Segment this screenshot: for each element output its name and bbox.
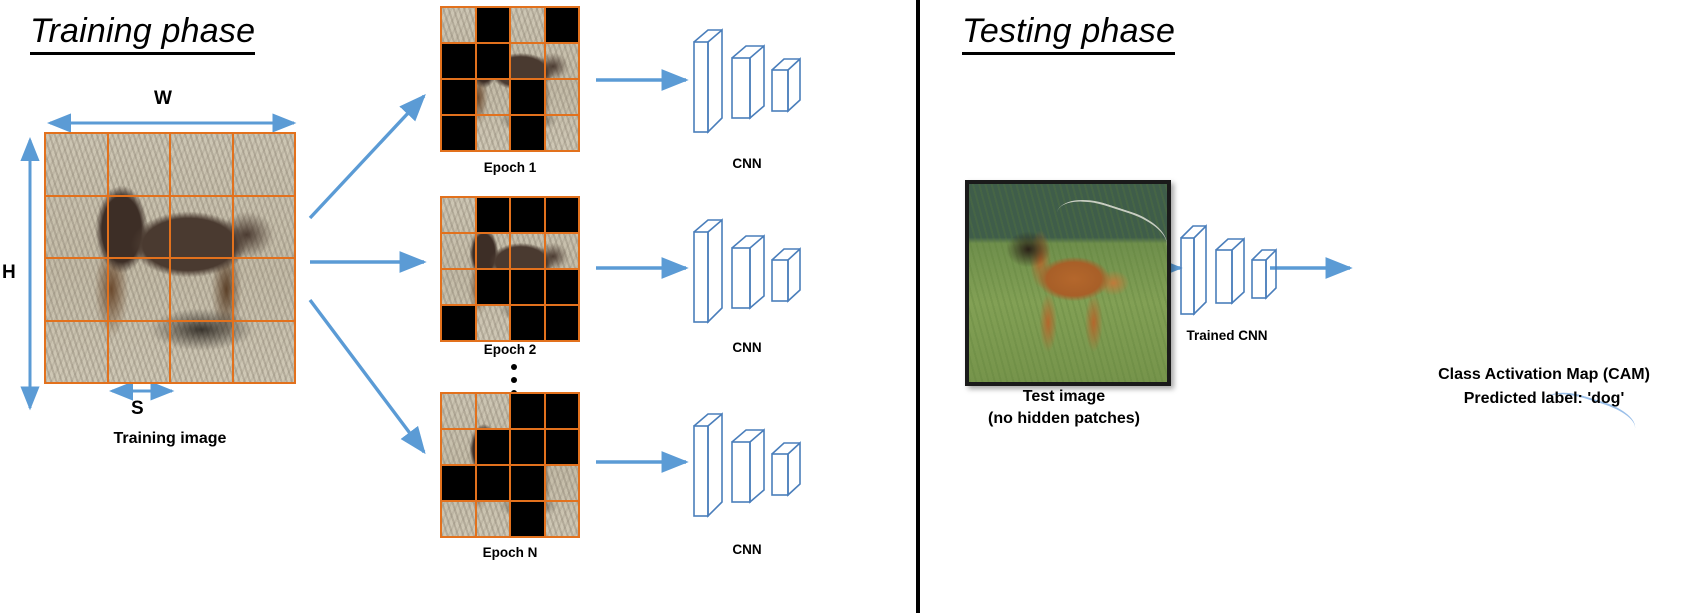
grid-cell-hidden [511, 394, 544, 428]
cnn-diagram-2 [684, 204, 810, 333]
grid-cell-visible [442, 234, 475, 268]
grid-cell-visible [477, 234, 510, 268]
grid-cell-hidden [511, 270, 544, 304]
grid-cell-visible [511, 234, 544, 268]
grid-cell-hidden [546, 306, 579, 340]
grid-cell-visible [546, 80, 579, 114]
grid-cell-hidden [477, 198, 510, 232]
grid-cell-hidden [477, 44, 510, 78]
grid-cell-visible [477, 116, 510, 150]
width-label: W [154, 88, 172, 110]
grid-cell-visible [442, 198, 475, 232]
grid-cell-visible [477, 502, 510, 536]
grid-cell-visible [546, 502, 579, 536]
epoch-1-grid[interactable] [440, 6, 580, 152]
grid-cell-hidden [546, 8, 579, 42]
leash-line [1046, 190, 1171, 280]
test-image-caption-line1: Test image [920, 388, 1208, 406]
grid-cell-hidden [511, 502, 544, 536]
cnn-2-label: CNN [684, 340, 810, 355]
grid-cell-hidden [442, 44, 475, 78]
grid-cell-hidden [477, 8, 510, 42]
epoch-2-label: Epoch 2 [440, 342, 580, 357]
testing-phase-title: Testing phase [962, 14, 1175, 55]
grid-cell [234, 197, 295, 258]
trained-cnn-diagram [1172, 212, 1282, 329]
grid-cell-visible [442, 502, 475, 536]
grid-cell-hidden [442, 306, 475, 340]
test-image-caption-line2: (no hidden patches) [920, 410, 1208, 428]
grid-cell-hidden [477, 430, 510, 464]
test-image[interactable] [965, 180, 1171, 386]
grid-cell [109, 197, 170, 258]
grid-cell-visible [546, 116, 579, 150]
grid-cell [109, 259, 170, 320]
grid-cell-hidden [511, 198, 544, 232]
epoch-n-grid[interactable] [440, 392, 580, 538]
height-label: H [2, 262, 16, 284]
grid-cell-visible [442, 8, 475, 42]
epoch-1-label: Epoch 1 [440, 160, 580, 175]
epoch-2-grid[interactable] [440, 196, 580, 342]
grid-cell-hidden [511, 116, 544, 150]
cam-caption-line2: Predicted label: 'dog' [1358, 390, 1698, 408]
stride-label: S [131, 398, 144, 420]
grid-cell [46, 134, 107, 195]
training-phase-title: Training phase [30, 14, 255, 55]
grid-cell-visible [511, 44, 544, 78]
phase-divider [916, 0, 920, 613]
grid-cell-visible [546, 44, 579, 78]
grid-cell [234, 322, 295, 383]
grid-cell-hidden [511, 466, 544, 500]
cnn-3-label: CNN [684, 542, 810, 557]
cnn-1-label: CNN [684, 156, 810, 171]
grid-cell-hidden [546, 394, 579, 428]
cnn-diagram-1 [684, 14, 810, 143]
grid-cell-visible [546, 466, 579, 500]
grid-cell-hidden [442, 116, 475, 150]
grid-cell-hidden [511, 306, 544, 340]
grid-cell-visible [442, 430, 475, 464]
cam-caption-line1: Class Activation Map (CAM) [1358, 366, 1698, 384]
grid-cell [234, 134, 295, 195]
grid-cell [46, 322, 107, 383]
grid-cell-visible [442, 394, 475, 428]
grid-cell [109, 134, 170, 195]
training-image-grid[interactable] [44, 132, 296, 384]
grid-cell-visible [477, 80, 510, 114]
grid-cell [171, 259, 232, 320]
training-image-caption: Training image [44, 430, 296, 448]
grid-cell-hidden [477, 466, 510, 500]
grid-cell-hidden [477, 270, 510, 304]
grid-cell-hidden [546, 430, 579, 464]
grid-cell-visible [546, 234, 579, 268]
grid-cell [171, 134, 232, 195]
grid-cell [46, 197, 107, 258]
grid-cell-hidden [442, 80, 475, 114]
grid-cell [109, 322, 170, 383]
grid-cell-hidden [546, 270, 579, 304]
grid-cell [234, 259, 295, 320]
cnn-diagram-3 [684, 398, 810, 527]
grid-cell-hidden [546, 198, 579, 232]
trained-cnn-label: Trained CNN [1152, 328, 1302, 343]
grid-cell-visible [477, 306, 510, 340]
grid-cell-visible [511, 8, 544, 42]
grid-cell-hidden [442, 466, 475, 500]
grid-cell-hidden [511, 80, 544, 114]
grid-cell-visible [477, 394, 510, 428]
grid-cell [171, 197, 232, 258]
epoch-n-label: Epoch N [440, 545, 580, 560]
grid-cell [171, 322, 232, 383]
grid-cell [46, 259, 107, 320]
grid-cell-visible [442, 270, 475, 304]
grid-cell-hidden [511, 430, 544, 464]
